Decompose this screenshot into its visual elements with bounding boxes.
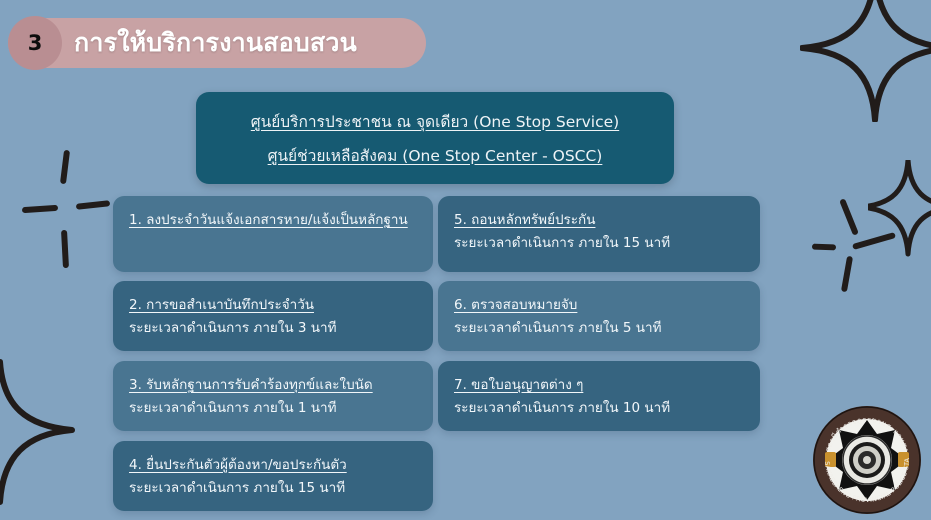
service-card-title: 2. การขอสำเนาบันทึกประจำวัน: [129, 295, 417, 316]
service-card-title: 3. รับหลักฐานการรับคำร้องทุกข์และใบนัด: [129, 375, 417, 396]
service-card-title: 7. ขอใบอนุญาตต่าง ๆ: [454, 375, 744, 396]
service-card-4[interactable]: 4. ยื่นประกันตัวผู้ต้องหา/ขอประกันตัว ระ…: [113, 441, 433, 511]
service-card-grid: 1. ลงประจำวันแจ้งเอกสารหาย/แจ้งเป็นหลักฐ…: [0, 0, 931, 518]
service-card-duration: ระยะเวลาดำเนินการ ภายใน 1 นาที: [129, 398, 417, 419]
service-card-title: 1. ลงประจำวันแจ้งเอกสารหาย/แจ้งเป็นหลักฐ…: [129, 210, 417, 231]
service-card-duration: ระยะเวลาดำเนินการ ภายใน 10 นาที: [454, 398, 744, 419]
service-card-1[interactable]: 1. ลงประจำวันแจ้งเอกสารหาย/แจ้งเป็นหลักฐ…: [113, 196, 433, 272]
service-card-3[interactable]: 3. รับหลักฐานการรับคำร้องทุกข์และใบนัด ร…: [113, 361, 433, 431]
service-card-5[interactable]: 5. ถอนหลักทรัพย์ประกัน ระยะเวลาดำเนินการ…: [438, 196, 760, 272]
service-card-title: 4. ยื่นประกันตัวผู้ต้องหา/ขอประกันตัว: [129, 455, 417, 476]
service-card-duration: ระยะเวลาดำเนินการ ภายใน 5 นาที: [454, 318, 744, 339]
police-station-logo: สถานีตำรวจภูธรขามสะแกแสง KHAMSAKAESAENG …: [811, 404, 923, 516]
service-card-duration: ระยะเวลาดำเนินการ ภายใน 3 นาที: [129, 318, 417, 339]
service-card-title: 5. ถอนหลักทรัพย์ประกัน: [454, 210, 744, 231]
service-card-7[interactable]: 7. ขอใบอนุญาตต่าง ๆ ระยะเวลาดำเนินการ ภา…: [438, 361, 760, 431]
service-card-2[interactable]: 2. การขอสำเนาบันทึกประจำวัน ระยะเวลาดำเน…: [113, 281, 433, 351]
service-card-duration: ระยะเวลาดำเนินการ ภายใน 15 นาที: [129, 478, 417, 499]
service-card-duration: ระยะเวลาดำเนินการ ภายใน 15 นาที: [454, 233, 744, 254]
service-card-title: 6. ตรวจสอบหมายจับ: [454, 295, 744, 316]
service-card-6[interactable]: 6. ตรวจสอบหมายจับ ระยะเวลาดำเนินการ ภายใ…: [438, 281, 760, 351]
